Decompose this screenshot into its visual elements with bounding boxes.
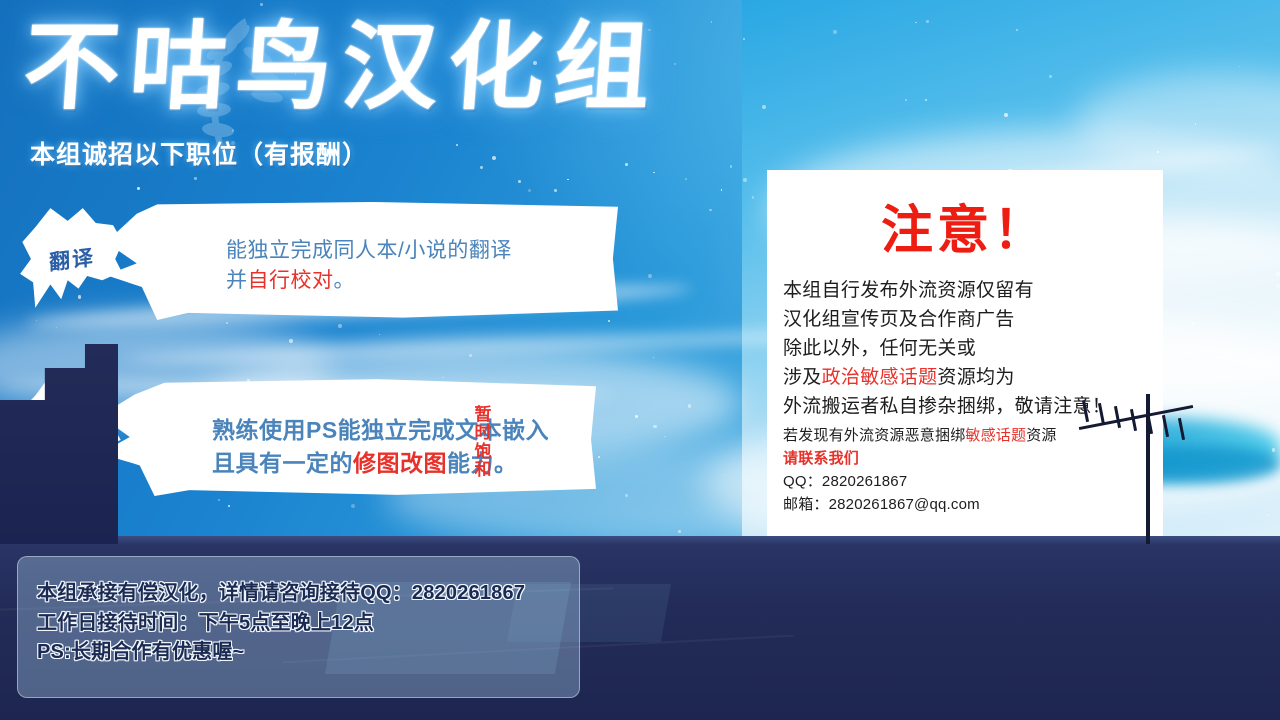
notice-title: 注意！ — [767, 188, 1163, 263]
antenna-element — [1114, 406, 1121, 428]
requirement-line-2: 且具有一定的修图改图能力。 — [212, 447, 549, 480]
position-banner-typesetting: 熟练使用PS能独立完成文本嵌入 且具有一定的修图改图能力。 暂时饱和 — [100, 378, 596, 496]
antenna-element — [1130, 409, 1137, 431]
bottom-info-line-3: PS:长期合作有优惠喔~ — [37, 638, 579, 668]
requirement-line-1: 能独立完成同人本/小说的翻译 — [226, 236, 512, 266]
requirement-line-2-highlight: 修图改图 — [353, 450, 447, 476]
position-banner-translation: 能独立完成同人本/小说的翻译 并自行校对。 — [106, 202, 618, 320]
notice-line: 本组自行发布外流资源仅留有 — [783, 277, 1147, 306]
position-status-badge: 暂时饱和 — [474, 406, 492, 479]
page-title: 不咕鸟汉化组 — [20, 18, 767, 119]
bottom-info-line-2: 工作日接待时间：下午5点至晚上12点 — [37, 609, 579, 639]
requirement-line-2-prefix: 且具有一定的 — [212, 450, 353, 476]
recruit-subtitle: 本组诚招以下职位（有报酬） — [30, 135, 764, 171]
notice-line-highlight: 政治敏感话题 — [822, 367, 938, 388]
requirement-line-2-prefix: 并 — [226, 269, 248, 292]
requirement-line-2-suffix: 。 — [334, 269, 356, 292]
notice-line: 除此以外，任何无关或 — [783, 335, 1147, 364]
notice-small-prefix: 若发现有外流资源恶意捆绑 — [783, 427, 965, 444]
title-block: 不咕鸟汉化组 本组诚招以下职位（有报酬） — [24, 18, 764, 171]
antenna-element — [1178, 418, 1185, 440]
antenna-element — [1082, 400, 1089, 422]
notice-line-prefix: 涉及 — [783, 367, 822, 388]
notice-small-suffix: 资源 — [1026, 427, 1056, 444]
tv-antenna-icon — [1074, 384, 1194, 544]
notice-line: 汉化组宣传页及合作商广告 — [783, 306, 1147, 335]
position-requirements: 熟练使用PS能独立完成文本嵌入 且具有一定的修图改图能力。 — [212, 414, 549, 479]
requirement-line-1: 熟练使用PS能独立完成文本嵌入 — [212, 414, 549, 447]
notice-small-highlight: 敏感话题 — [965, 427, 1026, 444]
position-requirements: 能独立完成同人本/小说的翻译 并自行校对。 — [226, 236, 512, 297]
promo-poster: 不咕鸟汉化组 本组诚招以下职位（有报酬） 能独立完成同人本/小说的翻译 并自行校… — [0, 0, 1280, 720]
notice-line-suffix: 资源均为 — [937, 367, 1014, 388]
antenna-element — [1162, 415, 1169, 437]
requirement-line-2-highlight: 自行校对 — [248, 269, 334, 292]
requirement-line-2: 并自行校对。 — [226, 266, 512, 296]
bottom-info-bar: 本组承接有偿汉化，详情请咨询接待QQ：2820261867 工作日接待时间：下午… — [17, 556, 580, 698]
antenna-element — [1098, 403, 1105, 425]
bottom-info-line-1: 本组承接有偿汉化，详情请咨询接待QQ：2820261867 — [37, 579, 579, 609]
dove-badge-translation: 翻译 — [18, 206, 126, 312]
